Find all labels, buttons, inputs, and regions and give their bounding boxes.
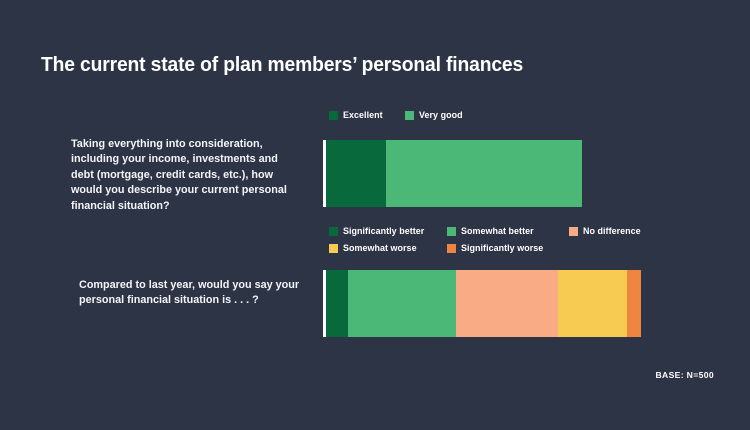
bar-segment-significantly-worse — [627, 270, 641, 337]
legend-swatch-icon — [447, 244, 456, 253]
legend-swatch-icon — [405, 111, 414, 120]
base-note: BASE: N=500 — [655, 370, 714, 380]
bar-segment-significantly-better — [326, 270, 348, 337]
legend-item-label: Significantly worse — [461, 243, 543, 253]
legend-item-label: No difference — [583, 226, 641, 236]
legend-swatch-icon — [329, 244, 338, 253]
legend-item-label: Excellent — [343, 110, 383, 120]
legend-row: Somewhat worseSignificantly worse — [329, 243, 659, 253]
legend-item-no-difference[interactable]: No difference — [569, 226, 643, 236]
chart-2-bar-track — [326, 270, 641, 337]
legend-item-label: Very good — [419, 110, 463, 120]
chart-1-legend: ExcellentVery good — [329, 110, 465, 120]
bar-segment-excellent — [326, 140, 386, 207]
bar-segment-very-good — [386, 140, 582, 207]
legend-swatch-icon — [569, 227, 578, 236]
page-title: The current state of plan members’ perso… — [41, 53, 523, 77]
bar-segment-somewhat-better — [348, 270, 456, 337]
question-2-label: Compared to last year, would you say you… — [79, 278, 302, 309]
legend-item-excellent[interactable]: Excellent — [329, 110, 384, 120]
legend-item-label: Significantly better — [343, 226, 424, 236]
chart-1-stacked-bar — [323, 140, 582, 207]
legend-row: ExcellentVery good — [329, 110, 465, 120]
bar-segment-no-difference — [456, 270, 558, 337]
chart-2-legend: Significantly betterSomewhat betterNo di… — [329, 226, 659, 253]
chart-2-stacked-bar — [323, 270, 641, 337]
legend-item-label: Somewhat worse — [343, 243, 417, 253]
legend-item-significantly-worse[interactable]: Significantly worse — [447, 243, 547, 253]
legend-swatch-icon — [329, 227, 338, 236]
bar-segment-somewhat-worse — [558, 270, 627, 337]
legend-item-somewhat-better[interactable]: Somewhat better — [447, 226, 569, 236]
legend-item-label: Somewhat better — [461, 226, 534, 236]
slide-canvas: The current state of plan members’ perso… — [0, 0, 750, 430]
legend-item-significantly-better[interactable]: Significantly better — [329, 226, 447, 236]
question-1-label: Taking everything into consideration, in… — [71, 137, 299, 214]
chart-1-bar-track — [326, 140, 582, 207]
legend-item-very-good[interactable]: Very good — [405, 110, 464, 120]
legend-swatch-icon — [329, 111, 338, 120]
legend-swatch-icon — [447, 227, 456, 236]
legend-item-somewhat-worse[interactable]: Somewhat worse — [329, 243, 447, 253]
legend-row: Significantly betterSomewhat betterNo di… — [329, 226, 659, 236]
